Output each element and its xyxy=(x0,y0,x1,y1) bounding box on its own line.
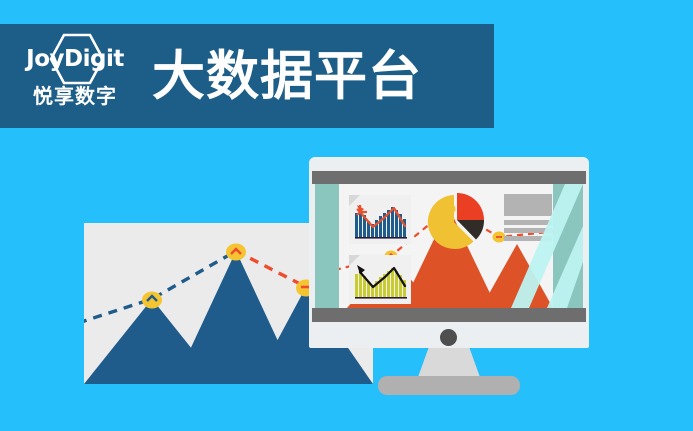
poster-canvas: JoyDigit 悦享数字 大数据平台 xyxy=(0,0,693,431)
screen-side-band-right xyxy=(553,184,583,308)
report-line xyxy=(504,220,552,225)
data-node-2 xyxy=(226,244,246,261)
logo-wordmark: JoyDigit xyxy=(26,48,124,71)
report-header-bar xyxy=(504,194,552,216)
monitor-top-bar xyxy=(312,171,586,184)
yellow-bars xyxy=(355,268,406,297)
power-indicator-icon[interactable] xyxy=(440,329,457,346)
dashboard-canvas xyxy=(339,184,553,308)
brand-logo[interactable]: JoyDigit 悦享数字 xyxy=(16,31,134,121)
screen-side-band-left xyxy=(315,184,339,308)
page-title: 大数据平台 xyxy=(152,50,422,103)
monitor-illustration xyxy=(309,157,589,395)
pie-slice-red xyxy=(457,193,484,220)
yellow-bar-chart-card xyxy=(349,255,411,304)
yellow-card-trend-line xyxy=(360,268,405,287)
orange-mountain-right xyxy=(481,244,553,308)
blue-baseline xyxy=(355,237,407,239)
blue-bar-chart-card xyxy=(349,195,411,244)
logo-subtitle: 悦享数字 xyxy=(33,87,117,107)
monitor-screen xyxy=(315,184,583,308)
data-node-1 xyxy=(142,292,162,309)
report-line xyxy=(504,236,552,241)
monitor-stand-base xyxy=(378,376,520,395)
report-line xyxy=(504,228,552,233)
yellow-baseline xyxy=(355,297,407,299)
header-banner: JoyDigit 悦享数字 大数据平台 xyxy=(0,24,494,128)
report-block xyxy=(504,194,552,238)
monitor-bottom-bar xyxy=(312,308,586,322)
pie-chart xyxy=(425,191,487,253)
blue-card-trend-line xyxy=(360,208,405,227)
